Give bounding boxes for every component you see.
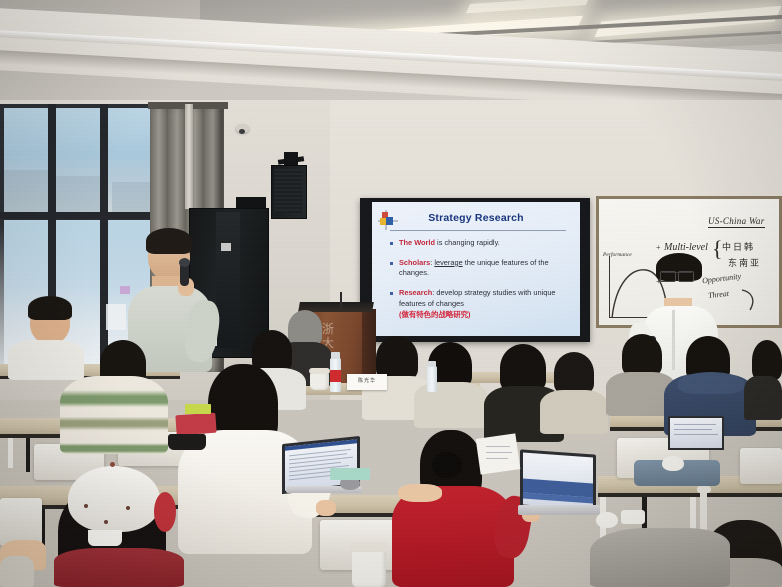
whiteboard-brace: { <box>712 236 723 262</box>
whiteboard-plus-mark: + <box>656 243 661 252</box>
glasses-lens <box>678 271 694 282</box>
dark-bag <box>168 434 206 450</box>
cap-eyelet <box>84 504 88 508</box>
mouse-pad <box>330 468 370 480</box>
red-folder[interactable] <box>175 413 216 436</box>
hair <box>622 334 662 376</box>
chair-back[interactable] <box>740 448 782 484</box>
cap-button <box>110 462 115 467</box>
microphone-head-icon <box>179 258 190 267</box>
screen-line <box>674 434 718 435</box>
glasses-lens <box>660 271 676 282</box>
bullet-keyword: The World <box>399 238 435 247</box>
water-bottle[interactable] <box>427 366 437 392</box>
projection-screen: Strategy Research The World is changing … <box>372 202 580 336</box>
slide-bullet-2: Scholars: leverage the unique features o… <box>390 258 570 279</box>
wall-conduit <box>185 104 193 209</box>
bottle-cap <box>331 352 340 359</box>
computer-mouse[interactable] <box>596 512 618 528</box>
torso <box>60 376 168 454</box>
hair <box>500 344 546 392</box>
paper-line <box>486 446 510 447</box>
cap-eyelet <box>104 520 108 524</box>
lectern-side-panel <box>362 309 376 381</box>
paper-line <box>486 458 508 459</box>
hair-bun <box>432 452 462 478</box>
cap-eyelet <box>126 506 130 510</box>
laptop-base <box>518 505 600 515</box>
chair-back[interactable] <box>0 498 42 546</box>
slide-title: Strategy Research <box>372 212 580 224</box>
shoulder-skin <box>398 484 442 502</box>
paper-line <box>486 452 512 453</box>
shirt-placket <box>672 310 675 370</box>
speaker-grille <box>274 169 302 213</box>
cabinet-sticker <box>221 243 231 251</box>
hair <box>554 352 594 394</box>
cabinet-glass-door[interactable] <box>216 212 240 348</box>
desk-leg <box>26 438 30 472</box>
bullet-keyword: Research <box>399 288 432 297</box>
name-card-text: 陈光华 <box>347 377 387 384</box>
classroom-photo: Strategy Research The World is changing … <box>0 0 782 587</box>
screen-line <box>674 429 712 430</box>
baseball-cap <box>68 466 160 532</box>
bullet-keyword: Scholars <box>399 258 430 267</box>
coffee-cup-lid <box>350 542 388 552</box>
tea-cup[interactable] <box>310 372 329 390</box>
torso <box>0 556 34 587</box>
hair <box>252 330 292 372</box>
slide-divider <box>390 230 566 231</box>
bullet-text: is changing rapidly. <box>435 238 500 247</box>
chair-leg <box>697 486 711 493</box>
name-card: 陈光华 <box>347 374 387 390</box>
laptop-screen <box>523 453 593 510</box>
hair <box>146 228 192 254</box>
whiteboard-heading: US-China War <box>708 216 765 228</box>
slide-bullet-1: The World is changing rapidly. <box>390 238 570 249</box>
coffee-cup[interactable] <box>352 548 386 587</box>
green-sticky-note <box>185 404 211 414</box>
desk-leg <box>8 438 13 468</box>
hand <box>316 500 336 516</box>
bullet-underlined-word: leverage <box>434 258 462 267</box>
torso <box>8 340 84 380</box>
torso <box>590 528 730 587</box>
slide-bullet-3: Research: develop strategy studies with … <box>390 288 570 320</box>
camera-lens-icon <box>239 129 245 134</box>
computer-mouse[interactable] <box>662 456 684 471</box>
paper-handout[interactable] <box>476 433 521 474</box>
whiteboard-chinese-note-2: 东南亚 <box>728 256 761 269</box>
screen-line <box>674 424 716 425</box>
tea-cup-lid <box>309 368 330 374</box>
torso <box>414 382 488 428</box>
bottle-cap <box>428 361 436 367</box>
hair <box>28 296 72 320</box>
cap-brim <box>154 492 176 532</box>
whiteboard-chinese-note-1: 中日韩 <box>722 240 755 253</box>
cap-back-strap <box>88 530 122 546</box>
hair <box>752 340 782 380</box>
whiteboard-arrow-mark <box>740 288 766 314</box>
hood <box>678 372 744 394</box>
laptop-screen <box>670 418 722 448</box>
slide-bullet-list: The World is changing rapidly. Scholars:… <box>390 238 570 329</box>
torso <box>54 548 184 587</box>
mouse-pad-item <box>621 510 645 524</box>
microphone-stand <box>340 292 342 310</box>
torso <box>744 376 782 420</box>
bullet-chinese-text: (做有特色的战略研究) <box>399 310 570 321</box>
hair <box>288 310 322 346</box>
torso <box>540 390 608 434</box>
